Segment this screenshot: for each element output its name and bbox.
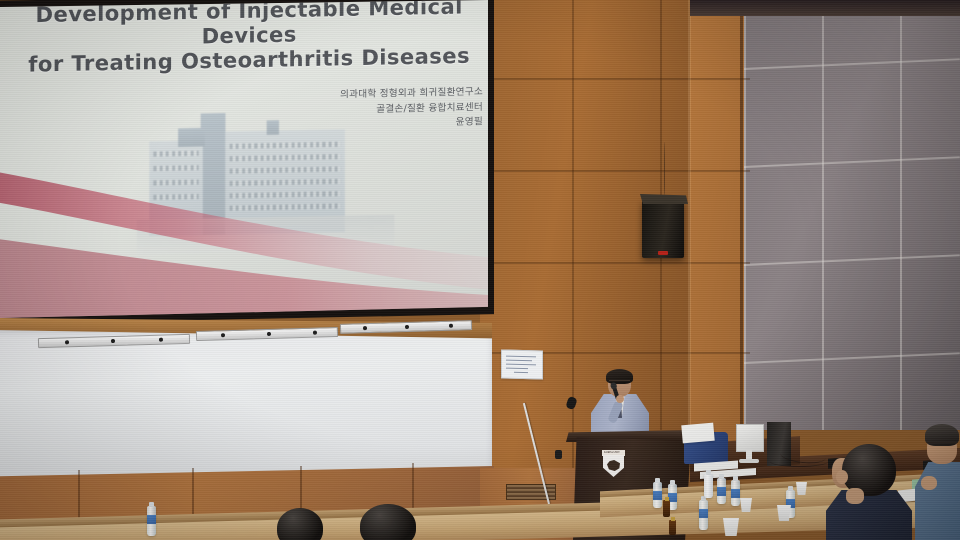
water-bottle bbox=[731, 480, 740, 506]
slide-title: Development of Injectable Medical Device… bbox=[7, 0, 488, 78]
slide-title-line2: for Treating Osteoarthritis Diseases bbox=[7, 43, 488, 77]
water-bottle bbox=[653, 482, 662, 508]
audience-head-front-right bbox=[360, 504, 416, 540]
audience-glasses bbox=[927, 442, 957, 448]
slide-affiliation-block: 의과대학 정형외과 희귀질환연구소 골결손/질환 융합치료센터 윤영필 bbox=[215, 85, 483, 135]
audience-body bbox=[915, 462, 960, 540]
wood-seam bbox=[480, 262, 750, 264]
paper-cup bbox=[740, 498, 752, 512]
paper-cup bbox=[777, 505, 791, 521]
audience-ear bbox=[836, 470, 848, 484]
wood-seam bbox=[480, 78, 750, 80]
audience-head-front-left bbox=[277, 508, 323, 540]
paper-cup bbox=[796, 482, 807, 495]
jbl-logo-badge bbox=[658, 251, 668, 255]
audience-member-seated-right bbox=[915, 424, 960, 540]
audience-hand bbox=[846, 488, 864, 504]
papers-stack bbox=[681, 423, 714, 444]
slide-accent-swoosh bbox=[0, 142, 488, 318]
desktop-monitor bbox=[736, 424, 766, 464]
speaker-top bbox=[640, 194, 688, 204]
mic-stand-clip bbox=[555, 450, 562, 459]
paper-cup bbox=[723, 518, 739, 536]
projection-screen: Development of Injectable Medical Device… bbox=[0, 0, 488, 318]
water-bottle bbox=[704, 474, 713, 498]
brown-glass-bottle bbox=[663, 500, 670, 517]
brown-glass-bottle bbox=[669, 520, 676, 535]
presenter-hand bbox=[616, 395, 624, 403]
monitor-screen bbox=[736, 424, 764, 452]
water-bottle bbox=[147, 506, 156, 536]
panel-seam bbox=[900, 0, 902, 430]
audience-hand bbox=[921, 476, 937, 490]
wood-seam bbox=[480, 170, 750, 172]
monitor-base bbox=[739, 459, 759, 463]
ceiling-band bbox=[690, 0, 960, 16]
wood-seam bbox=[740, 0, 743, 430]
wall-notice-sign bbox=[501, 349, 543, 379]
audience-body bbox=[826, 490, 912, 540]
korea-university-crest-icon: KOREA UNIV bbox=[601, 448, 626, 478]
water-bottle bbox=[717, 478, 726, 504]
slide-title-line1: Development of Injectable Medical Device… bbox=[36, 0, 463, 48]
audience-member-seated-mid bbox=[820, 444, 916, 540]
speaker-body bbox=[642, 200, 684, 258]
wood-highlight bbox=[688, 0, 691, 470]
jbl-wall-speaker bbox=[640, 192, 688, 260]
lecture-hall-photo: Development of Injectable Medical Device… bbox=[0, 0, 960, 540]
panel-seam bbox=[744, 0, 746, 430]
water-bottle bbox=[699, 500, 708, 530]
mic-stand-head bbox=[565, 396, 577, 410]
speaker-cable bbox=[664, 142, 665, 195]
